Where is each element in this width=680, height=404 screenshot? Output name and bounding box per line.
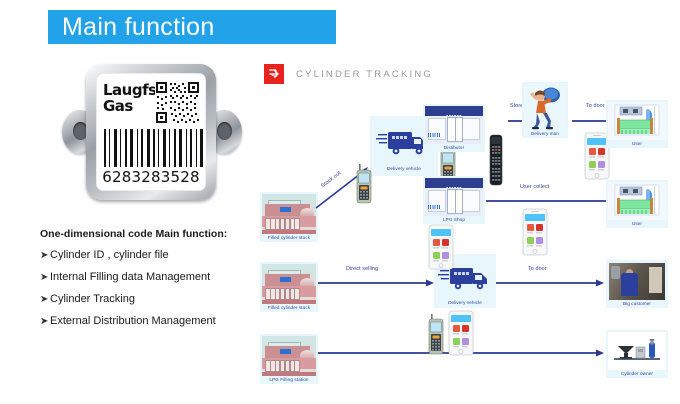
node-filled-cylinder-stock-2: Filled cylinder stock [260,262,318,312]
node-label: LPG Filling station [260,376,318,383]
bullet-arrow-icon: ➤ [40,271,50,284]
plant-image [262,194,316,234]
smartphone-app-icon-4 [448,310,474,356]
list-item-label: Cylinder Tracking [50,293,135,306]
list-item: ➤ Cylinder Tracking [40,293,280,306]
delivery-man-icon [524,84,566,130]
plant-image [262,336,316,376]
tag-number: 6283283528 [96,168,206,186]
node-lpg-filling-station: LPG Filling station [260,334,318,384]
tag-hole-right [217,122,232,140]
cylinder-tag-image: Laugfs Gas [60,58,242,206]
node-label: LPG Shop [423,216,485,223]
bullet-arrow-icon: ➤ [40,315,50,328]
node-label: Cylinder owner [606,370,668,377]
tag-brand-line1: Laugfs [103,82,153,98]
list-item: ➤ Internal Filling data Management [40,271,280,284]
bullet-arrow-icon: ➤ [40,249,50,262]
node-label: Delivery vehicle [370,165,438,172]
node-label: User [606,220,668,227]
bedroom-icon [608,182,666,220]
tag-brand-line2: Gas [103,98,153,114]
diagram-heading-label: CYLINDER TRACKING [296,69,433,80]
cylinder-tracking-diagram: CYLINDER TRACKING Filled cylinder stock [252,56,680,404]
arrow-label-direct-selling: Direct selling [346,266,378,272]
smartphone-app-icon-3 [428,224,454,270]
node-label: User [606,140,668,147]
shop-image: ■■■■■■ [425,106,483,144]
list-item-label: External Distribution Management [50,315,216,328]
node-label: Distibutor [423,144,485,151]
node-cylinder-owner: Cylinder owner [606,330,668,378]
node-label: Filled cylinder stock [260,234,318,241]
feature-list: One-dimensional code Main function: ➤ Cy… [40,228,280,337]
arrow-direct-selling [318,278,436,288]
node-label: Delivery vehicle [434,299,496,306]
tag-label-face: Laugfs Gas [96,73,206,191]
node-lpg-shop: ■■■■■■ LPG Shop [423,176,485,224]
node-user-2: User [606,180,668,228]
node-label: Delivery man [522,130,568,137]
node-label: Big customer [606,300,668,307]
arrow-label-to-door-mid: To door [528,266,547,272]
node-user-1: User [606,100,668,148]
qr-code-icon [155,81,200,124]
bullet-arrow-icon: ➤ [40,293,50,306]
page-title: Main function [48,15,215,40]
node-label: Filled cylinder stock [260,304,318,311]
barcode-icon [104,129,198,167]
remote-scanner-icon [488,134,504,186]
arrow-label-to-door-top: To door [586,103,605,109]
handheld-scanner-icon-1 [356,164,372,204]
bedroom-icon [608,102,666,140]
node-filled-cylinder-stock-1: Filled cylinder stock [260,192,318,242]
big-customer-photo [609,263,665,300]
diagram-heading: CYLINDER TRACKING [264,64,433,84]
arrow-label-user-collect: User collect [520,184,549,190]
list-item: ➤ External Distribution Management [40,315,280,328]
feature-list-title: One-dimensional code Main function: [40,228,280,240]
list-item-label: Internal Filling data Management [50,271,210,284]
plant-image [262,264,316,304]
red-arrow-icon [264,64,284,84]
cylinder-owner-icon [608,332,666,370]
handheld-scanner-icon-3 [428,314,444,356]
arrow-to-door-mid [496,278,606,288]
smartphone-app-icon-2 [522,208,548,256]
tag-brand: Laugfs Gas [103,82,153,114]
shop-image: ■■■■■■ [425,178,483,216]
node-delivery-man: Delivery man [522,82,568,138]
list-item-label: Cylinder ID , cylinder file [50,249,169,262]
slide-root: Main function Laugfs Gas [0,0,680,404]
list-item: ➤ Cylinder ID , cylinder file [40,249,280,262]
node-big-customer: Big customer [606,260,668,308]
slide-header-bar: Main function [48,10,336,44]
node-distributor: ■■■■■■ Distibutor [423,104,485,152]
